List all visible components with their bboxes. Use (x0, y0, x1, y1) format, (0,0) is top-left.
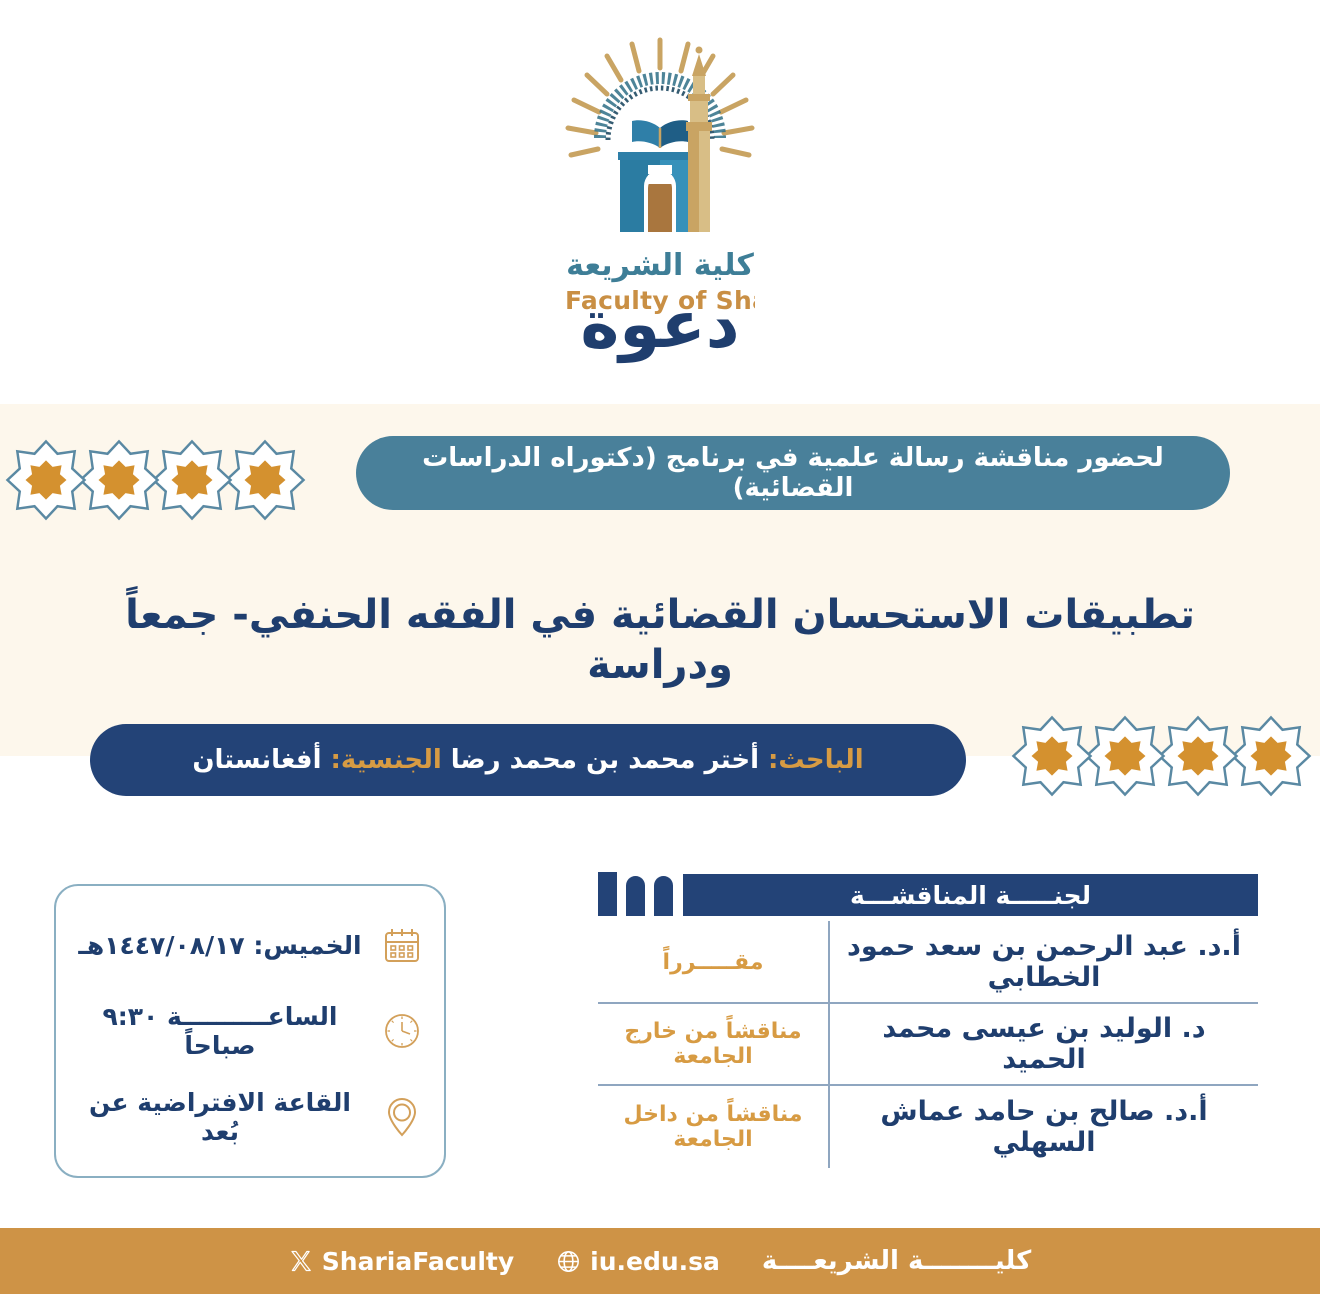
thesis-title: تطبيقات الاستحسان القضائية في الفقه الحن… (70, 590, 1250, 690)
eight-point-star-icon (5, 428, 87, 532)
committee-heading-label: لجنـــــة المناقشـــة (683, 874, 1258, 916)
poster-header: كلية الشريعة Faculty of Sharia (0, 34, 1320, 315)
eight-point-star-icon (78, 428, 160, 532)
committee-member-role: مناقشاً من داخل الجامعة (598, 1086, 830, 1168)
committee-member-name: أ.د. عبد الرحمن بن سعد حمود الخطابي (830, 931, 1258, 993)
committee-header: لجنـــــة المناقشـــة (598, 872, 1258, 916)
table-row: د. الوليد بن عيسى محمد الحميد مناقشاً من… (598, 1004, 1258, 1086)
committee-member-name: أ.د. صالح بن حامد عماش السهلي (830, 1096, 1258, 1158)
detail-row-time: الساعــــــــــة ٩:٣٠ صباحاً (76, 994, 424, 1068)
footer-website-text: iu.edu.sa (590, 1247, 720, 1276)
committee-arch-decoration (598, 872, 673, 916)
event-details-card: الخميس: ١٤٤٧/٠٨/١٧هـ الساعــــ (54, 884, 446, 1178)
detail-date-text: الخميس: ١٤٤٧/٠٨/١٧هـ (76, 931, 364, 960)
detail-location-text: القاعة الافتراضية عن بُعد (76, 1088, 364, 1146)
researcher-label: الباحث: (768, 745, 864, 775)
committee-members-list: أ.د. عبد الرحمن بن سعد حمود الخطابي مقــ… (598, 922, 1258, 1168)
arch-shape-icon (626, 876, 645, 916)
committee-member-role: مقـــــرراً (598, 921, 830, 1003)
open-book-icon (632, 120, 688, 148)
minaret-icon (686, 47, 712, 233)
researcher-name: أختر محمد بن محمد رضا (451, 745, 759, 775)
discussion-committee-section: لجنـــــة المناقشـــة أ.د. عبد الرحمن بن… (598, 872, 1258, 1168)
table-row: أ.د. عبد الرحمن بن سعد حمود الخطابي مقــ… (598, 922, 1258, 1004)
footer-social[interactable]: ShariaFaculty (289, 1247, 514, 1276)
invitation-subtitle-banner: لحضور مناقشة رسالة علمية في برنامج (دكتو… (356, 436, 1230, 510)
poster-footer: كليــــــــة الشريعــــة iu.edu.sa Shari… (0, 1228, 1320, 1294)
nationality-value: أفغانستان (192, 745, 321, 775)
clock-icon (380, 1009, 424, 1053)
eight-point-star-icon (224, 428, 306, 532)
detail-time-text: الساعــــــــــة ٩:٣٠ صباحاً (76, 1002, 364, 1060)
globe-icon (556, 1249, 581, 1274)
calendar-icon (380, 923, 424, 967)
committee-member-role: مناقشاً من خارج الجامعة (598, 1003, 830, 1085)
footer-social-text: ShariaFaculty (322, 1247, 514, 1276)
arch-shape-icon (654, 876, 673, 916)
university-logo (560, 34, 760, 244)
nationality-label: الجنسية: (330, 745, 441, 775)
footer-faculty-name: كليــــــــة الشريعــــة (762, 1246, 1031, 1276)
detail-row-date: الخميس: ١٤٤٧/٠٨/١٧هـ (76, 908, 424, 982)
islamic-university-madinah-emblem-icon (560, 34, 760, 244)
location-pin-icon (380, 1095, 424, 1139)
arch-shape-icon (598, 872, 617, 916)
detail-row-location: القاعة الافتراضية عن بُعد (76, 1080, 424, 1154)
researcher-banner: الباحث: أختر محمد بن محمد رضا الجنسية: أ… (90, 724, 966, 796)
ornament-stars-right (1020, 704, 1312, 808)
faculty-name-arabic: كلية الشريعة (566, 248, 754, 283)
eight-point-star-icon (1084, 704, 1166, 808)
invitation-heading: دعوة (0, 292, 1320, 358)
committee-member-name: د. الوليد بن عيسى محمد الحميد (830, 1013, 1258, 1075)
invitation-poster: كلية الشريعة Faculty of Sharia دعوة (0, 0, 1320, 1294)
eight-point-star-icon (1230, 704, 1312, 808)
eight-point-star-icon (151, 428, 233, 532)
eight-point-star-icon (1011, 704, 1093, 808)
x-twitter-icon (289, 1249, 313, 1273)
table-row: أ.د. صالح بن حامد عماش السهلي مناقشاً من… (598, 1086, 1258, 1168)
ornament-stars-left (14, 428, 306, 532)
footer-website[interactable]: iu.edu.sa (556, 1247, 720, 1276)
eight-point-star-icon (1157, 704, 1239, 808)
